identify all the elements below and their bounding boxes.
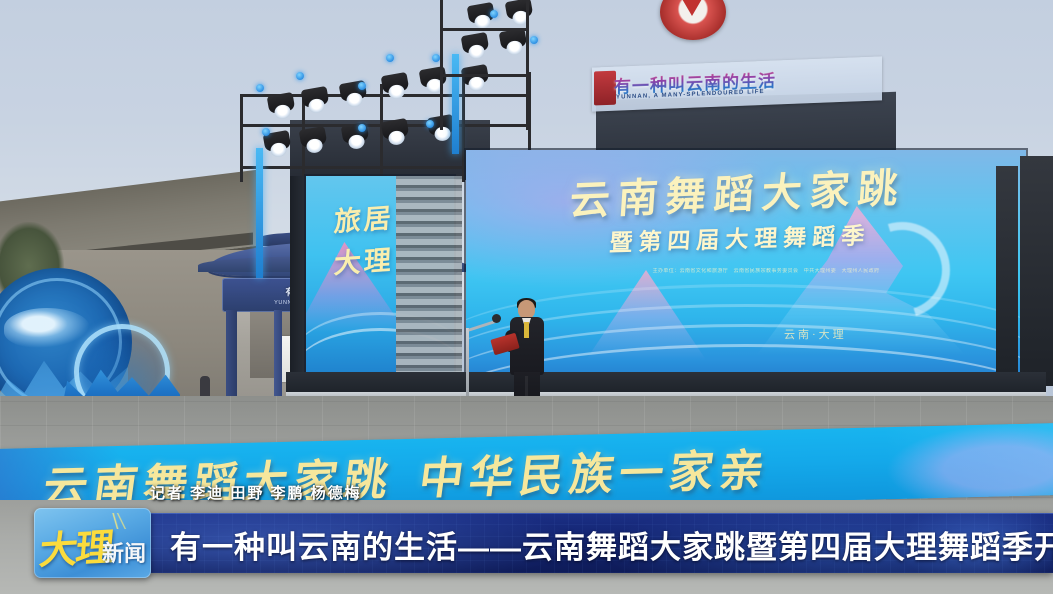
truss-post <box>440 0 443 130</box>
headline-text: 有一种叫云南的生活——云南舞蹈大家跳暨第四届大理舞蹈季开幕 <box>170 522 1053 567</box>
speaker-stack <box>996 166 1018 382</box>
led-location-credit: 云南·大理 <box>784 326 847 342</box>
light-indicator <box>358 82 366 90</box>
speaker-tie <box>524 322 529 338</box>
microphone-head-icon <box>492 314 501 323</box>
light-indicator <box>426 120 434 128</box>
light-indicator <box>256 84 264 92</box>
archway-inner-column-left <box>274 310 282 402</box>
lighting-truss-right <box>440 0 570 130</box>
stage-scaffold <box>396 176 462 378</box>
truss-post <box>526 0 529 130</box>
led-left-line1: 旅居 <box>333 196 395 239</box>
led-left-line2: 大理 <box>333 238 395 281</box>
blue-led-pole <box>256 148 263 278</box>
light-indicator <box>386 54 394 62</box>
channel-logo: 大理 新闻 <box>34 508 151 578</box>
led-fine-print: 主办单位：云南省文化和旅游厅 云南省民族宗教事务委员会 中共大理州委 大理州人民… <box>626 268 906 275</box>
channel-logo-secondary: 新闻 <box>102 536 146 568</box>
led-main-screen: 云南舞蹈大家跳 暨第四届大理舞蹈季 主办单位：云南省文化和旅游厅 云南省民族宗教… <box>466 150 1026 388</box>
light-indicator <box>262 128 270 136</box>
banner-seal-icon <box>594 71 616 106</box>
headline-bar: 有一种叫云南的生活——云南舞蹈大家跳暨第四届大理舞蹈季开幕 <box>148 513 1053 573</box>
truss-post <box>240 94 243 182</box>
reporter-credit: 记者 李迪 田野 李鹏 杨德梅 <box>150 482 362 503</box>
broadcast-frame: 有一种叫云南的生活 YUNNAN, A MANY-SPLENDOURED LIF… <box>0 0 1053 594</box>
truss-beam <box>440 74 528 77</box>
truss-beam <box>440 28 528 31</box>
skirt-right-text: 中华民族一家亲 <box>416 446 772 504</box>
light-indicator <box>432 54 440 62</box>
speaker-stack <box>1020 156 1053 386</box>
light-indicator <box>296 72 304 80</box>
decor-cloud <box>4 308 90 348</box>
archway-column-left <box>226 310 237 410</box>
light-indicator <box>358 124 366 132</box>
